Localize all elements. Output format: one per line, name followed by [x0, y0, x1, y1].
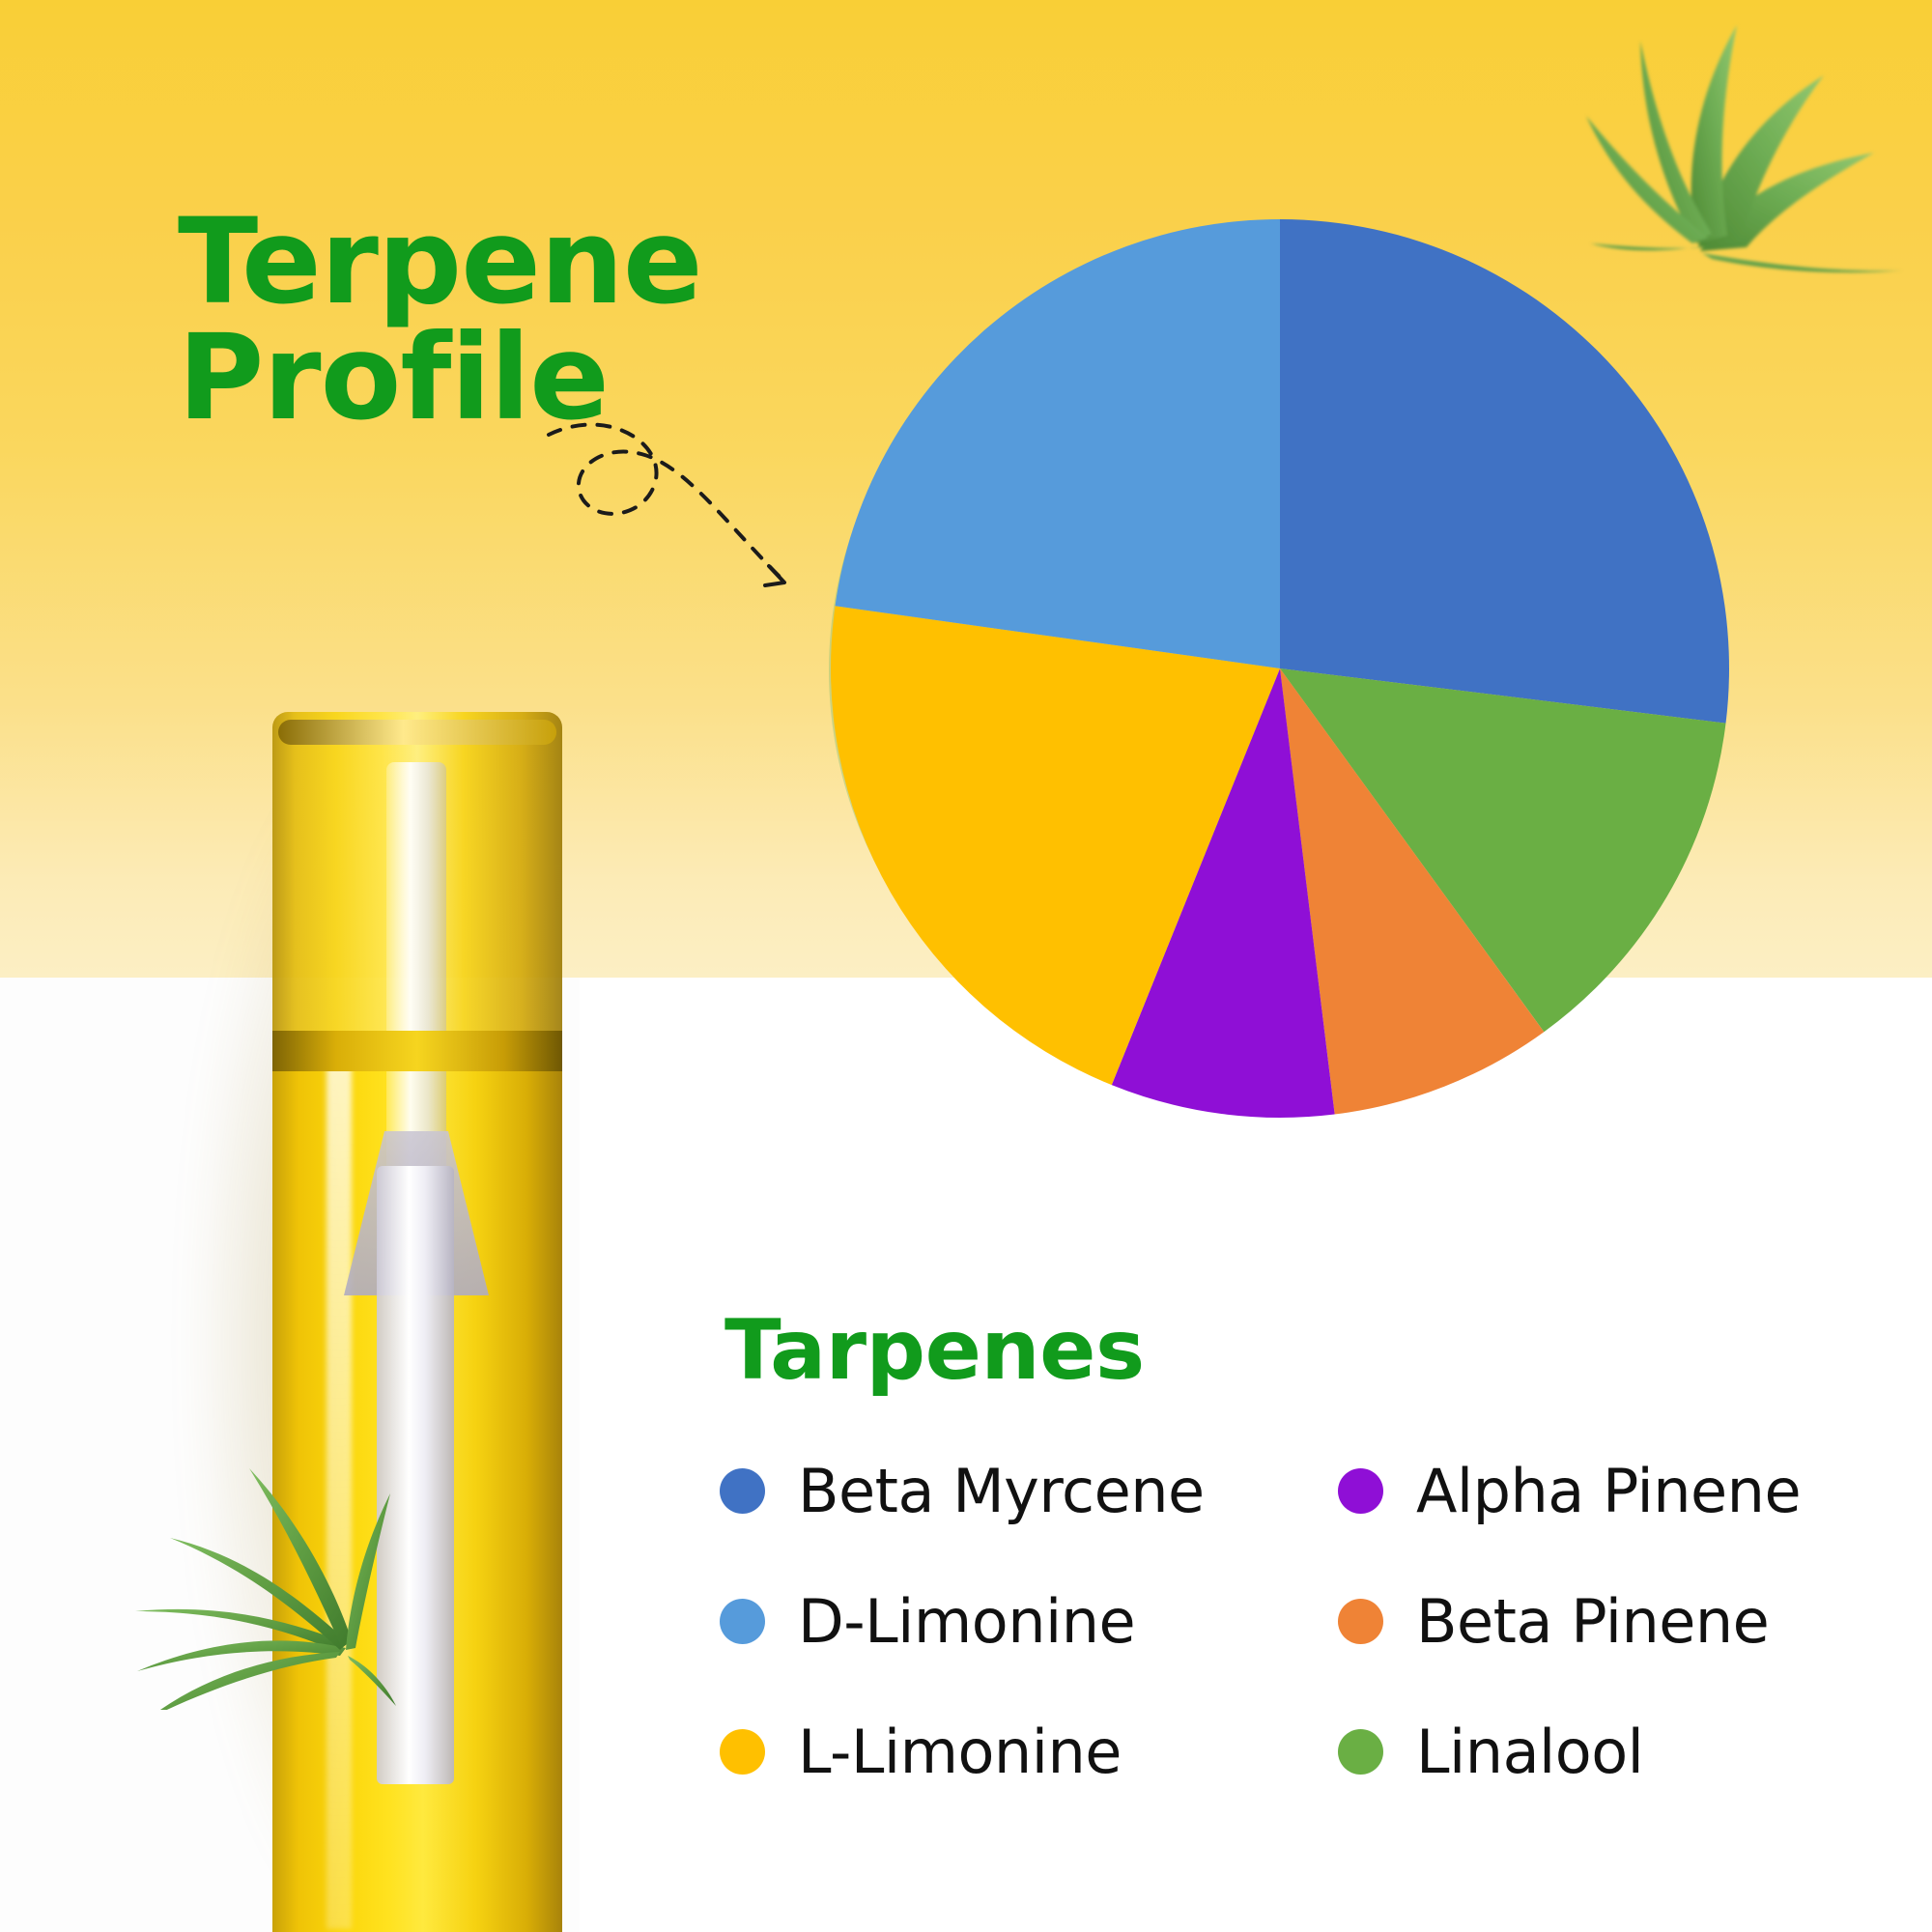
pie-slices-group	[810, 189, 1768, 1148]
legend-item-label: Beta Myrcene	[798, 1456, 1205, 1526]
legend-item-label: Alpha Pinene	[1416, 1456, 1801, 1526]
infographic-canvas: Terpene Profile	[0, 0, 1932, 1932]
pen-inner-tube	[386, 762, 446, 1178]
product-vape-pen: GREEN MANTRA 2ml	[272, 712, 562, 1932]
page-title: Terpene Profile	[178, 205, 796, 436]
legend-item-l-limonine[interactable]: L-Limonine	[720, 1717, 1338, 1787]
legend-item-label: Beta Pinene	[1416, 1586, 1769, 1657]
legend-item-d-limonine[interactable]: D-Limonine	[720, 1586, 1338, 1657]
legend-item-beta-pinene[interactable]: Beta Pinene	[1338, 1586, 1879, 1657]
pen-neck-band	[272, 1031, 562, 1071]
legend: Tarpenes Beta Myrcene Alpha Pinene D-Lim…	[720, 1309, 1869, 1787]
legend-item-label: L-Limonine	[798, 1717, 1122, 1787]
pen-cap-rim	[278, 720, 556, 745]
legend-color-dot	[1338, 1599, 1383, 1644]
legend-item-label: D-Limonine	[798, 1586, 1135, 1657]
dashed-swirl-arrow-icon	[541, 415, 811, 638]
legend-color-dot	[720, 1468, 765, 1514]
legend-item-beta-myrcene[interactable]: Beta Myrcene	[720, 1456, 1338, 1526]
cannabis-leaf-icon	[77, 1430, 396, 1710]
legend-item-label: Linalool	[1416, 1717, 1643, 1787]
terpene-pie-chart	[810, 189, 1768, 1148]
legend-grid: Beta Myrcene Alpha Pinene D-Limonine Bet…	[720, 1456, 1869, 1787]
legend-color-dot	[720, 1729, 765, 1775]
pie-slice-beta-myrcene[interactable]	[1280, 219, 1729, 724]
legend-item-linalool[interactable]: Linalool	[1338, 1717, 1879, 1787]
legend-color-dot	[1338, 1729, 1383, 1775]
pie-slice-d-limonine[interactable]	[836, 219, 1280, 668]
legend-color-dot	[1338, 1468, 1383, 1514]
legend-heading: Tarpenes	[724, 1309, 1869, 1392]
legend-item-alpha-pinene[interactable]: Alpha Pinene	[1338, 1456, 1879, 1526]
legend-color-dot	[720, 1599, 765, 1644]
